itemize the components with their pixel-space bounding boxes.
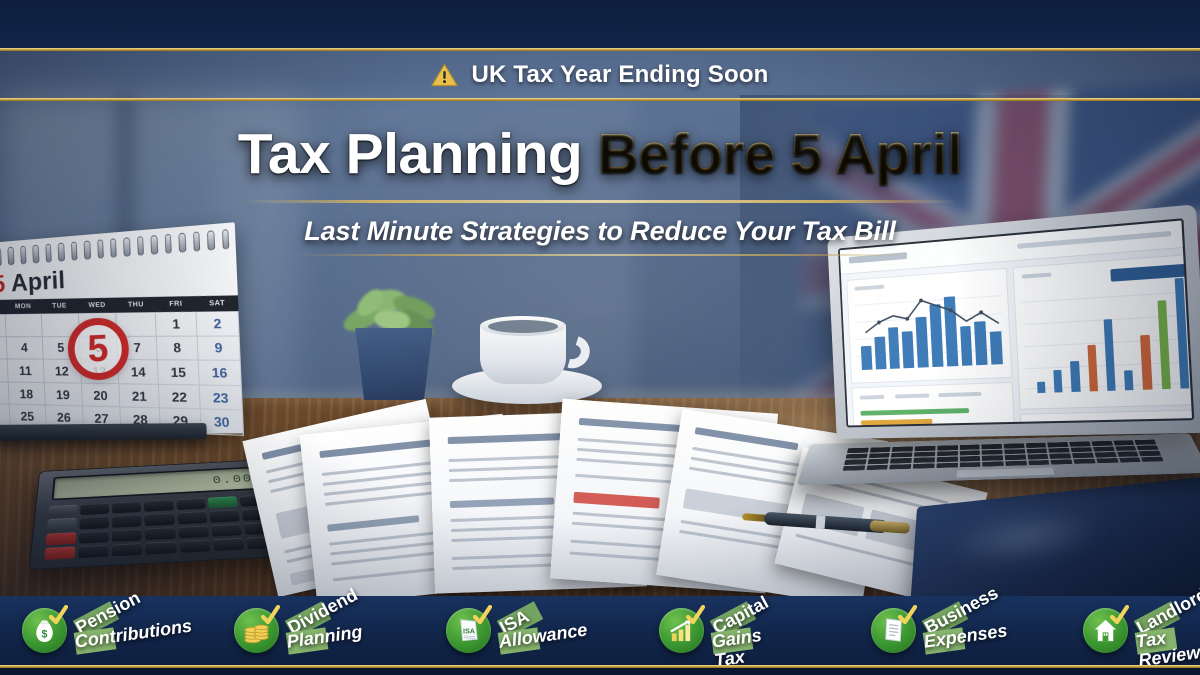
calculator-key — [145, 513, 175, 526]
laptop-key — [1117, 451, 1139, 456]
laptop-key — [1119, 457, 1141, 462]
calendar-day-cell: 1 — [156, 312, 198, 337]
laptop-key — [1005, 460, 1026, 465]
bar-series-right — [1032, 274, 1189, 393]
laptop-key — [870, 447, 891, 452]
laptop-key — [1072, 453, 1094, 458]
title-underline-rule — [242, 200, 958, 203]
calculator-key — [207, 496, 237, 508]
potted-plant — [336, 280, 452, 400]
calendar-day-cell: 18 — [9, 382, 46, 406]
mug-rim — [480, 316, 566, 336]
calculator-display-value: 0.00 — [212, 473, 254, 487]
calculator-key — [178, 525, 209, 538]
laptop-key — [866, 465, 888, 471]
laptop-key — [1004, 443, 1025, 448]
title-part-white: Tax Planning — [238, 122, 598, 186]
laptop-key — [936, 462, 957, 468]
laptop-key — [1137, 445, 1159, 450]
calculator-key — [112, 528, 142, 541]
calendar-day-cell: 15 — [158, 361, 200, 386]
calculator-key — [112, 543, 143, 557]
laptop-key — [1141, 456, 1163, 461]
laptop-key — [1004, 449, 1025, 454]
laptop-key — [1049, 448, 1070, 453]
calculator-key — [47, 518, 77, 531]
laptop-key — [847, 448, 869, 453]
weekday-wed: WED — [78, 298, 117, 314]
calculator-key — [212, 537, 244, 551]
feature-badge-label: ISAAllowance — [499, 610, 541, 652]
laptop-key — [1027, 454, 1048, 459]
dashboard-legend-panel — [852, 382, 1016, 428]
laptop-key — [1050, 453, 1072, 458]
calendar-day-cell: 9 — [198, 336, 241, 361]
laptop-screen-dashboard — [838, 218, 1194, 427]
calendar-day-cell: 11 — [8, 360, 45, 383]
badge-label-line2: Allowance — [498, 627, 541, 654]
laptop-base — [797, 433, 1200, 485]
calculator-key — [78, 544, 109, 558]
laptop-key — [869, 453, 891, 458]
laptop-key — [1115, 446, 1137, 451]
calendar-day-cell: 30 — [201, 410, 244, 436]
feature-badge-landlord[interactable]: LandlordTax Review — [1083, 608, 1178, 653]
calendar-stand — [0, 423, 207, 441]
bottom-navy-band — [0, 668, 1200, 675]
calendar-day-cell: 4 — [7, 337, 44, 360]
weekday-tue: TUE — [41, 298, 79, 313]
laptop-key — [982, 450, 1003, 455]
calculator-key — [179, 539, 211, 553]
calculator-key — [209, 510, 240, 523]
laptop-key — [1048, 442, 1069, 447]
calendar-day-cell: 21 — [120, 384, 160, 409]
calendar-day-cell: 20 — [82, 383, 121, 407]
dashboard-chart-panel-right — [1013, 254, 1195, 410]
laptop-key — [1051, 459, 1073, 464]
calendar-day-number: 5 — [0, 271, 6, 299]
feature-badge-strip: $PensionContributionsDividendPlanningISA… — [0, 596, 1200, 665]
laptop-key — [982, 461, 1003, 466]
feature-badge-label: LandlordTax Review — [1136, 610, 1178, 652]
promo-graphic: 5 April SUN MON TUE WED THU FRI SAT 1234… — [0, 0, 1200, 675]
laptop-key — [843, 465, 865, 471]
calculator-key — [145, 541, 176, 555]
badge-label-line2: Tax Review — [1135, 627, 1178, 654]
calendar-day-cell: 19 — [44, 383, 82, 407]
laptop-key — [982, 455, 1003, 460]
laptop-key — [937, 457, 958, 462]
svg-text:ISA: ISA — [463, 626, 476, 635]
calculator-key — [46, 532, 77, 545]
calculator-key — [112, 501, 141, 513]
laptop-key — [846, 453, 868, 458]
calendar-day-cell — [6, 314, 43, 337]
weekday-fri: FRI — [155, 296, 196, 312]
weekday-mon: MON — [5, 299, 42, 314]
subtitle-underline-rule — [294, 254, 906, 256]
badge-label-line2: Contributions — [74, 627, 117, 654]
laptop-key — [914, 457, 935, 462]
laptop-keyboard — [843, 440, 1164, 471]
calendar-month-name: April — [10, 266, 65, 297]
feature-badge-pension[interactable]: $PensionContributions — [22, 608, 117, 653]
laptop-key — [1028, 460, 1050, 465]
coin-stack-icon — [234, 608, 279, 653]
laptop-trackpad — [956, 467, 1056, 478]
coffee-surface — [488, 320, 558, 333]
laptop-key — [960, 445, 980, 450]
laptop-key — [1026, 443, 1047, 448]
money-bag-icon: $ — [22, 608, 67, 653]
laptop-key — [1093, 446, 1115, 451]
laptop-key — [1139, 451, 1161, 456]
page-title: Tax Planning Before 5 April — [0, 126, 1200, 183]
cup-handle — [550, 330, 595, 374]
laptop-key — [890, 458, 912, 463]
laptop-key — [982, 444, 1003, 449]
calendar-day-cell: 8 — [157, 336, 199, 361]
warning-triangle-icon — [431, 63, 458, 87]
feature-badge-label: BusinessExpenses — [924, 610, 966, 652]
calendar-day-cell: 23 — [200, 385, 243, 411]
laptop-key — [890, 464, 912, 470]
receipt-icon — [871, 608, 916, 653]
laptop-key — [1094, 452, 1116, 457]
dashboard-summary-panel — [1020, 409, 1194, 427]
feature-badge-isa[interactable]: ISAISAAllowance — [446, 608, 541, 653]
laptop-key — [1069, 441, 1090, 446]
calculator-key — [48, 505, 78, 517]
feature-badge-label: CapitalGains Tax — [712, 610, 754, 652]
laptop-key — [913, 463, 934, 469]
isa-document-icon: ISA — [446, 608, 491, 653]
calculator-key — [80, 503, 109, 515]
plant-pot — [350, 328, 438, 400]
calendar-day-cell: 16 — [199, 361, 242, 386]
svg-text:$: $ — [42, 628, 48, 640]
laptop-computer — [806, 222, 1200, 522]
red-highlight-marker — [573, 492, 660, 509]
top-navy-band — [0, 0, 1200, 48]
laptop-key — [844, 459, 866, 464]
laptop-key — [1091, 441, 1112, 446]
feature-badge-label: PensionContributions — [75, 610, 117, 652]
feature-badge-capital[interactable]: CapitalGains Tax — [659, 608, 754, 653]
feature-badge-business[interactable]: BusinessExpenses — [871, 608, 966, 653]
calculator-key — [79, 530, 109, 543]
chart-bar — [861, 346, 872, 370]
calculator-key — [80, 516, 110, 529]
page-subtitle: Last Minute Strategies to Reduce Your Ta… — [0, 216, 1200, 247]
laptop-key — [892, 446, 913, 451]
calculator-key — [145, 527, 176, 540]
calendar-body: 5 April SUN MON TUE WED THU FRI SAT 1234… — [0, 222, 244, 434]
laptop-key — [959, 462, 980, 468]
alert-banner-text: UK Tax Year Ending Soon — [471, 61, 768, 89]
laptop-key — [960, 450, 981, 455]
laptop-key — [1096, 458, 1118, 463]
weekday-sat: SAT — [196, 295, 239, 311]
calendar-day-cell: 2 — [197, 311, 240, 336]
laptop-key — [937, 451, 958, 456]
calculator-key — [144, 500, 173, 512]
badge-label-line2: Expenses — [922, 627, 965, 654]
calculator-key — [211, 523, 243, 536]
house-icon — [1083, 608, 1128, 653]
laptop-key — [1135, 440, 1157, 445]
alert-banner: UK Tax Year Ending Soon — [0, 51, 1200, 98]
laptop-key — [1071, 447, 1092, 452]
laptop-key — [1005, 455, 1026, 460]
laptop-key — [937, 445, 957, 450]
calendar-month-title: 5 April — [0, 266, 66, 299]
laptop-key — [915, 446, 936, 451]
laptop-key — [867, 459, 889, 464]
laptop-key — [891, 452, 912, 457]
badge-label-line2: Planning — [286, 627, 329, 654]
dashboard-chart-panel-left — [846, 268, 1012, 384]
hero-title-block: Tax Planning Before 5 April — [0, 126, 1200, 183]
mug-body — [480, 322, 566, 384]
calculator-key — [177, 511, 207, 524]
calculator-key — [112, 515, 142, 528]
badge-label-line2: Gains Tax — [710, 627, 753, 654]
feature-badge-label: DividendPlanning — [287, 610, 329, 652]
bar-chart-up-icon — [659, 608, 704, 653]
laptop-key — [1113, 440, 1134, 445]
weekday-thu: THU — [116, 297, 156, 313]
laptop-key — [1026, 448, 1047, 453]
coffee-cup — [452, 306, 602, 406]
calculator-key — [44, 546, 75, 560]
trend-line-overlay — [858, 285, 1007, 344]
title-part-gold: Before 5 April — [598, 122, 963, 186]
laptop-key — [1073, 458, 1095, 463]
laptop-key — [959, 456, 980, 461]
office-desk-photo: 5 April SUN MON TUE WED THU FRI SAT 1234… — [0, 0, 1200, 675]
calculator-key — [176, 498, 206, 510]
gold-divider-banner-bottom — [0, 98, 1200, 101]
laptop-key — [914, 451, 935, 456]
calendar-day-cell: 22 — [159, 385, 201, 410]
feature-badge-dividend[interactable]: DividendPlanning — [234, 608, 329, 653]
